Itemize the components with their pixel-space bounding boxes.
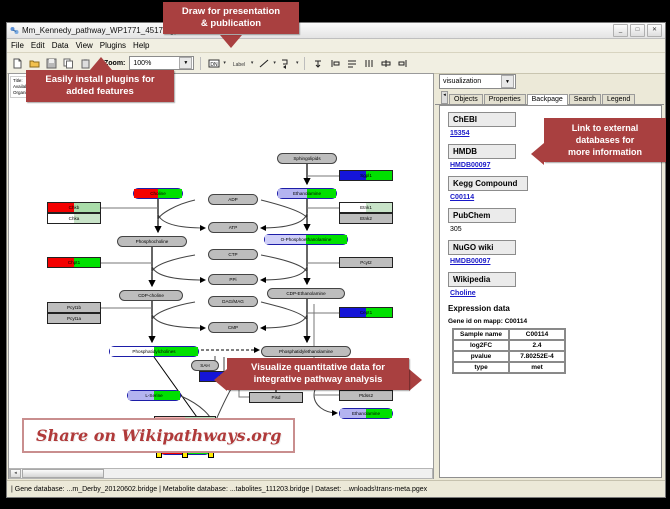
callout-visualize-arrow-right-icon	[409, 369, 422, 391]
menu-item-data[interactable]: Data	[52, 41, 69, 50]
node-label: DAG/MAG	[222, 299, 244, 304]
interaction-caret-icon[interactable]: ▾	[296, 60, 299, 66]
metabolite-node-phosphocholine[interactable]: Phosphocholine	[117, 236, 187, 247]
window-controls: _ □ ✕	[613, 24, 662, 37]
minimize-button[interactable]: _	[613, 24, 628, 37]
gene-node-pcyt1b[interactable]: Pcyt1b	[47, 302, 101, 313]
callout-visualize-line2: integrative pathway analysis	[254, 374, 383, 385]
tab-backpage[interactable]: Backpage	[527, 94, 568, 105]
callout-links-arrow-icon	[531, 143, 544, 165]
gene-node-pisd[interactable]: Pisd	[249, 392, 303, 403]
node-label: CTP	[228, 252, 237, 257]
callout-plugins-line2: added features	[66, 86, 134, 97]
table-cell: type	[453, 362, 509, 373]
tab-search[interactable]: Search	[569, 94, 601, 104]
backpage-value-5[interactable]: Choline	[450, 290, 661, 297]
metabolite-node-cmp[interactable]: CMP	[208, 322, 258, 333]
callout-links-line2: databases for	[576, 135, 635, 145]
open-folder-icon[interactable]	[28, 57, 41, 70]
node-label: Choline	[150, 191, 166, 196]
side-tabstrip: ◂ Objects Properties Backpage Search Leg…	[435, 91, 664, 105]
close-button[interactable]: ✕	[647, 24, 662, 37]
label-caret-icon[interactable]: ▾	[251, 60, 254, 66]
metabolite-node-ppi[interactable]: PPi	[208, 274, 258, 285]
menu-item-view[interactable]: View	[76, 41, 93, 50]
gene-node-chkb[interactable]: Chkb	[47, 202, 101, 213]
zoom-combobox[interactable]: 100% ▼	[129, 56, 194, 70]
callout-plugins: Easily install plugins for added feature…	[26, 70, 174, 102]
metabolite-node-atp[interactable]: ATP	[208, 222, 258, 233]
metabolite-node-ethanolamine[interactable]: Ethanolamine	[339, 408, 393, 419]
backpage-link-5[interactable]: Choline	[450, 290, 476, 297]
metabolite-node-ctp[interactable]: CTP	[208, 249, 258, 260]
gene-node-etnk1[interactable]: Etnk1	[339, 202, 393, 213]
node-label: O-Phosphoethanolamine	[281, 237, 332, 242]
backpage-link-4[interactable]: HMDB00097	[450, 258, 490, 265]
menu-item-file[interactable]: File	[11, 41, 24, 50]
expression-table: Sample nameC00114log2FC2.4pvalue7.80252E…	[452, 328, 566, 374]
backpage-header-wikipedia: Wikipedia	[448, 272, 516, 287]
node-label: Etnk1	[360, 205, 372, 210]
node-label: SAH	[200, 363, 209, 368]
copy-icon[interactable]	[62, 57, 75, 70]
backpage-header-nugo-wiki: NuGO wiki	[448, 240, 516, 255]
backpage-value-2[interactable]: C00114	[450, 194, 661, 201]
callout-plugins-arrow-icon	[90, 57, 112, 70]
menu-item-plugins[interactable]: Plugins	[100, 41, 126, 50]
callout-plugins-line1: Easily install plugins for	[45, 74, 154, 85]
save-icon[interactable]	[45, 57, 58, 70]
callout-visualize-arrow-icon	[214, 369, 227, 391]
visualization-value: visualization	[443, 78, 481, 85]
node-label: Cept1	[360, 310, 372, 315]
gene-node-pcyt2[interactable]: Pcyt2	[339, 257, 393, 268]
align-top-icon[interactable]	[311, 57, 324, 70]
chevron-down-icon[interactable]: ▼	[501, 75, 514, 88]
node-label: Pisd	[272, 395, 281, 400]
metabolite-node-o-phosphoethanolamine[interactable]: O-Phosphoethanolamine	[264, 234, 348, 245]
gene-node-sgpl1[interactable]: Sgpl1	[339, 170, 393, 181]
node-label: Pcyt2	[360, 260, 372, 265]
callout-draw-line1: Draw for presentation	[182, 6, 280, 17]
table-cell: pvalue	[453, 351, 509, 362]
metabolite-node-phosphatidylethanolamine[interactable]: Phosphatidylethanolamine	[261, 346, 351, 357]
callout-links: Link to external databases for more info…	[544, 118, 666, 162]
node-label: CDP-Ethanolamine	[286, 291, 325, 296]
backpage-header-chebi: ChEBI	[448, 112, 516, 127]
line-caret-icon[interactable]: ▾	[273, 60, 276, 66]
callout-draw-arrow-icon	[220, 35, 242, 48]
menu-item-edit[interactable]: Edit	[31, 41, 45, 50]
align-right-icon[interactable]	[396, 57, 409, 70]
callout-visualize-line1: Visualize quantitative data for	[251, 362, 385, 373]
svg-text:DN: DN	[210, 61, 218, 67]
label-icon[interactable]: Label	[230, 57, 248, 70]
node-label: Ethanolamine	[293, 191, 321, 196]
gene-node-cept1[interactable]: Cept1	[339, 307, 393, 318]
node-label: ADP	[228, 197, 237, 202]
node-label: Ethanolamine	[352, 411, 380, 416]
node-label: PPi	[229, 277, 236, 282]
node-label: Ptdss2	[359, 393, 373, 398]
toolbar-separator-2	[304, 57, 305, 70]
new-file-icon[interactable]	[11, 57, 24, 70]
pathvisio-icon	[10, 26, 19, 35]
node-label: L-Serine	[145, 393, 162, 398]
datanode-caret-icon[interactable]: ▾	[223, 60, 226, 66]
backpage-header-pubchem: PubChem	[448, 208, 516, 223]
align-left-icon[interactable]	[328, 57, 341, 70]
gene-node-ptdss2[interactable]: Ptdss2	[339, 390, 393, 401]
screenshot-root: Mm_Kennedy_pathway_WP1771_45176.gpml _ □…	[0, 0, 670, 509]
table-cell: 2.4	[509, 340, 565, 351]
line-icon[interactable]	[257, 57, 270, 70]
backpage-link-1[interactable]: HMDB00097	[450, 162, 490, 169]
callout-draw: Draw for presentation & publication	[163, 2, 299, 34]
share-banner: Share on Wikipathways.org	[22, 418, 295, 453]
node-label: ATP	[229, 225, 238, 230]
node-label: Phosphocholine	[136, 239, 169, 244]
callout-draw-line2: & publication	[201, 18, 261, 29]
table-cell: log2FC	[453, 340, 509, 351]
node-label: Chpt1	[68, 260, 80, 265]
table-row: log2FC2.4	[453, 340, 565, 351]
menu-bar: File Edit Data View Plugins Help	[7, 39, 665, 53]
tab-legend[interactable]: Legend	[602, 94, 635, 104]
gene-node-chka[interactable]: Chka	[47, 213, 101, 224]
metabolite-node-choline[interactable]: Choline	[133, 188, 183, 199]
node-label: CDP-choline	[138, 293, 164, 298]
gene-node-pcyt1a[interactable]: Pcyt1a	[47, 313, 101, 324]
scrollbar-thumb[interactable]	[22, 469, 104, 478]
status-text: | Gene database: ...m_Derby_20120602.bri…	[11, 486, 427, 493]
gene-id-line: Gene id on mapp: C00114	[448, 318, 661, 325]
node-label: Chkb	[69, 205, 80, 210]
metabolite-node-cdp-choline[interactable]: CDP-choline	[119, 290, 183, 301]
table-row: typemet	[453, 362, 565, 373]
stack-horizontal-icon[interactable]	[362, 57, 375, 70]
table-row: pvalue7.80252E-4	[453, 351, 565, 362]
metabolite-node-dag-mag[interactable]: DAG/MAG	[208, 296, 258, 307]
metabolite-node-ethanolamine[interactable]: Ethanolamine	[277, 188, 337, 199]
callout-visualize: Visualize quantitative data for integrat…	[227, 358, 409, 390]
metabolite-node-sphingolipids[interactable]: Sphingolipids	[277, 153, 337, 164]
node-label: Pcyt1b	[67, 305, 81, 310]
callout-links-line3: more information	[568, 147, 642, 157]
table-cell: C00114	[509, 329, 565, 340]
status-bar: | Gene database: ...m_Derby_20120602.bri…	[7, 480, 665, 497]
backpage-link-0[interactable]: 15354	[450, 130, 469, 137]
node-label: CMP	[228, 325, 238, 330]
canvas-horizontal-scrollbar[interactable]: ◄	[9, 468, 433, 479]
node-label: Chka	[69, 216, 80, 221]
chevron-down-icon[interactable]: ▼	[179, 57, 192, 69]
table-cell: 7.80252E-4	[509, 351, 565, 362]
metabolite-node-l-serine[interactable]: L-Serine	[127, 390, 181, 401]
gene-node-etnk2[interactable]: Etnk2	[339, 213, 393, 224]
maximize-button[interactable]: □	[630, 24, 645, 37]
tab-scroll-left-icon[interactable]: ◂	[441, 91, 448, 104]
scroll-left-icon[interactable]: ◄	[10, 469, 21, 478]
table-row: Sample nameC00114	[453, 329, 565, 340]
node-label: Etnk2	[360, 216, 372, 221]
backpage-value-4[interactable]: HMDB00097	[450, 258, 661, 265]
tab-properties[interactable]: Properties	[484, 94, 526, 104]
node-label: Phosphatidylcholines	[132, 349, 175, 354]
metabolite-node-cdp-ethanolamine[interactable]: CDP-Ethanolamine	[267, 288, 345, 299]
node-label: Sphingolipids	[293, 156, 320, 161]
stack-vertical-icon[interactable]	[345, 57, 358, 70]
backpage-value-1[interactable]: HMDB00097	[450, 162, 661, 169]
expression-data-title: Expression data	[448, 304, 661, 313]
metabolite-node-phosphatidylcholines[interactable]: Phosphatidylcholines	[109, 346, 199, 357]
backpage-header-hmdb: HMDB	[448, 144, 516, 159]
menu-item-help[interactable]: Help	[133, 41, 149, 50]
node-label: Sgpl1	[360, 173, 372, 178]
interaction-icon[interactable]	[280, 57, 293, 70]
backpage-value-3: 305	[450, 226, 661, 233]
visualization-select[interactable]: visualization ▼	[439, 74, 516, 89]
gene-node-chpt1[interactable]: Chpt1	[47, 257, 101, 268]
backpage-link-2[interactable]: C00114	[450, 194, 474, 201]
node-label: Phosphatidylethanolamine	[279, 349, 333, 354]
align-center-icon[interactable]	[379, 57, 392, 70]
title-bar: Mm_Kennedy_pathway_WP1771_45176.gpml _ □…	[7, 23, 665, 39]
tab-objects[interactable]: Objects	[449, 94, 483, 104]
toolbar-separator	[200, 57, 201, 70]
metabolite-node-adp[interactable]: ADP	[208, 194, 258, 205]
datanode-icon[interactable]: DN	[207, 57, 220, 70]
callout-links-line1: Link to external	[572, 123, 639, 133]
zoom-value: 100%	[133, 60, 151, 67]
backpage-header-kegg-compound: Kegg Compound	[448, 176, 528, 191]
table-cell: Sample name	[453, 329, 509, 340]
svg-text:Label: Label	[233, 62, 245, 68]
node-label: Pcyt1a	[67, 316, 81, 321]
table-cell: met	[509, 362, 565, 373]
